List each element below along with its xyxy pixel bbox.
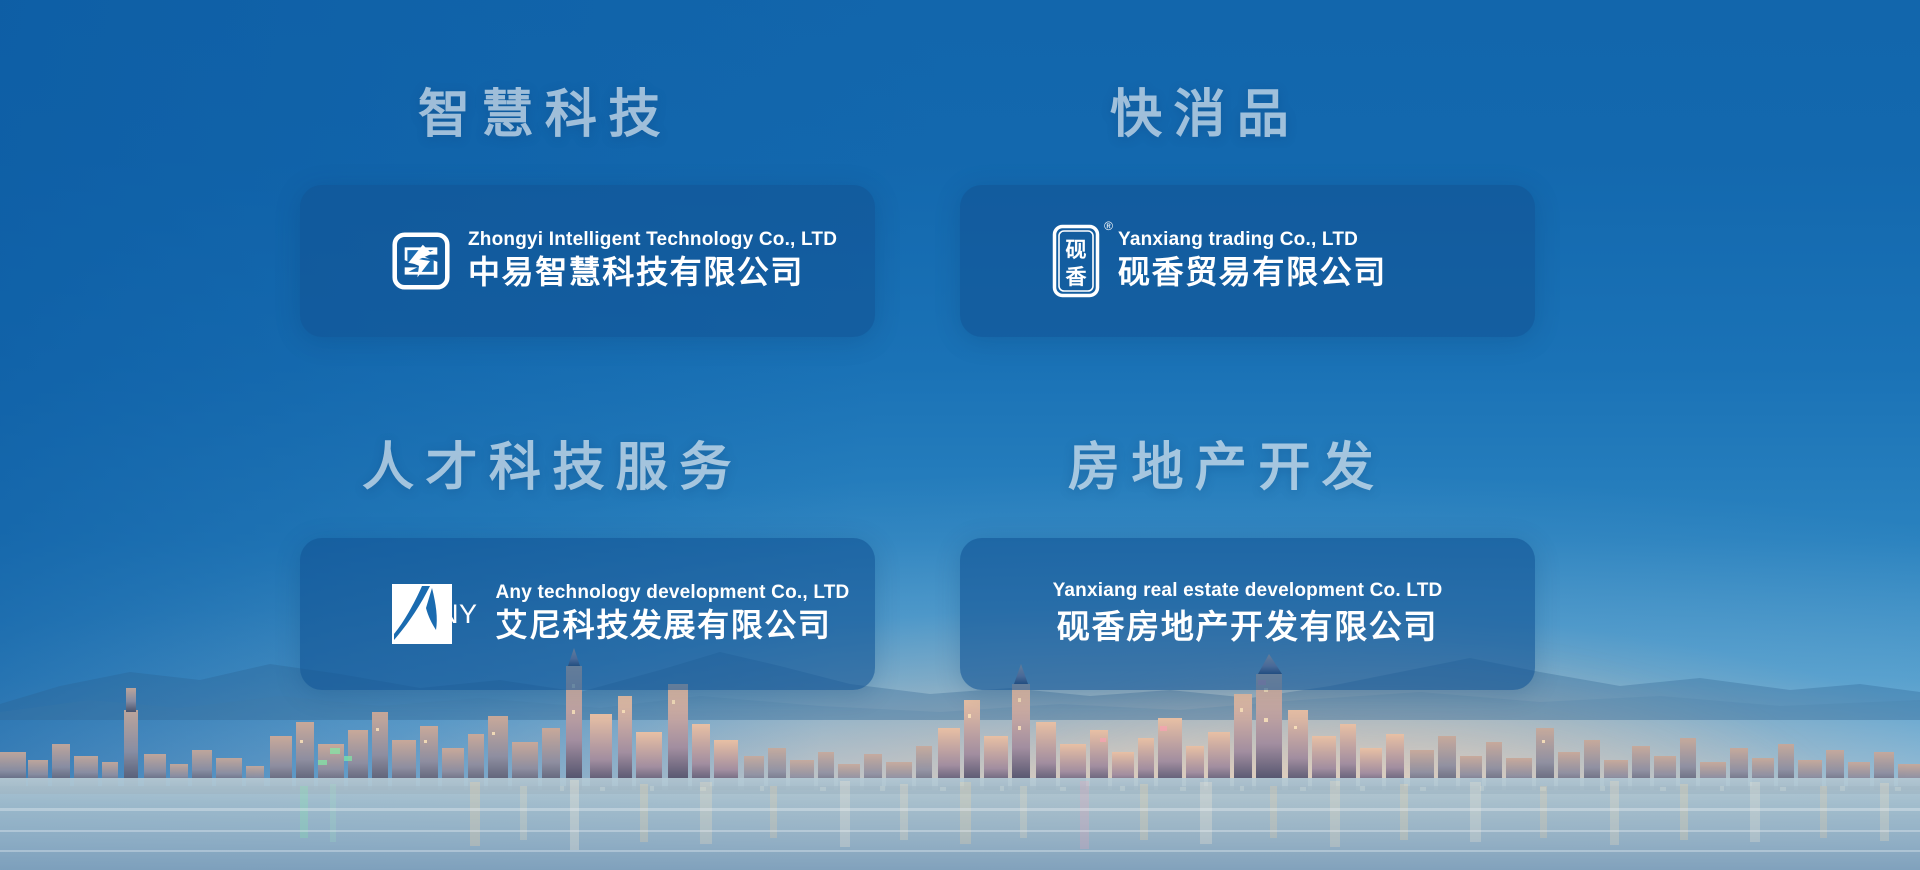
company-card-yanxiang-real-estate[interactable]: Yanxiang real estate development Co. LTD…	[960, 538, 1535, 690]
company-name-en: Zhongyi Intelligent Technology Co., LTD	[468, 228, 837, 252]
sector-cell-fmcg: 快消品 砚 香 ®	[960, 72, 1620, 425]
seal-char-bottom: 香	[1066, 265, 1088, 289]
company-name-cn: 中易智慧科技有限公司	[468, 251, 837, 294]
sectors-grid: 智慧科技 Zhongyi Intelligent Technology Co.,…	[0, 0, 1920, 870]
seal-char-top: 砚	[1066, 238, 1087, 262]
company-card-zhongyi[interactable]: Zhongyi Intelligent Technology Co., LTD …	[300, 185, 875, 337]
zhongyi-z-logo-icon	[392, 232, 450, 290]
sector-cell-talent-services: 人才科技服务 NY Any technology development Co.…	[300, 425, 960, 778]
sector-cell-smart-technology: 智慧科技 Zhongyi Intelligent Technology Co.,…	[300, 72, 960, 425]
any-logo-icon: NY	[392, 584, 478, 644]
company-name-cn: 艾尼科技发展有限公司	[496, 604, 850, 647]
company-card-yanxiang-trading[interactable]: 砚 香 ® Yanxiang trading Co., LTD 砚香贸易有限公司	[960, 185, 1535, 337]
section-heading-real-estate: 房地产开发	[1068, 425, 1535, 500]
company-names-zhongyi: Zhongyi Intelligent Technology Co., LTD …	[468, 228, 837, 295]
yanxiang-seal-logo-icon: 砚 香 ®	[1052, 224, 1100, 298]
company-name-en: Yanxiang real estate development Co. LTD	[1053, 579, 1443, 603]
company-name-cn: 砚香贸易有限公司	[1118, 251, 1387, 294]
section-heading-talent-services: 人才科技服务	[362, 425, 875, 500]
company-name-en: Yanxiang trading Co., LTD	[1118, 228, 1387, 252]
company-name-cn: 砚香房地产开发有限公司	[1053, 605, 1443, 650]
sector-cell-real-estate: 房地产开发 Yanxiang real estate development C…	[960, 425, 1620, 778]
company-names-yanxiang-real-estate: Yanxiang real estate development Co. LTD…	[1053, 579, 1443, 649]
section-heading-fmcg: 快消品	[1110, 72, 1535, 147]
section-heading-smart-technology: 智慧科技	[418, 72, 875, 147]
company-names-any-technology: Any technology development Co., LTD 艾尼科技…	[496, 581, 850, 648]
company-card-any-technology[interactable]: NY Any technology development Co., LTD 艾…	[300, 538, 875, 690]
business-sectors-banner: 智慧科技 Zhongyi Intelligent Technology Co.,…	[0, 0, 1920, 870]
company-names-yanxiang-trading: Yanxiang trading Co., LTD 砚香贸易有限公司	[1118, 228, 1387, 295]
any-logo-text: NY	[439, 599, 478, 630]
company-name-en: Any technology development Co., LTD	[496, 581, 850, 605]
registered-trademark-icon: ®	[1104, 220, 1113, 232]
